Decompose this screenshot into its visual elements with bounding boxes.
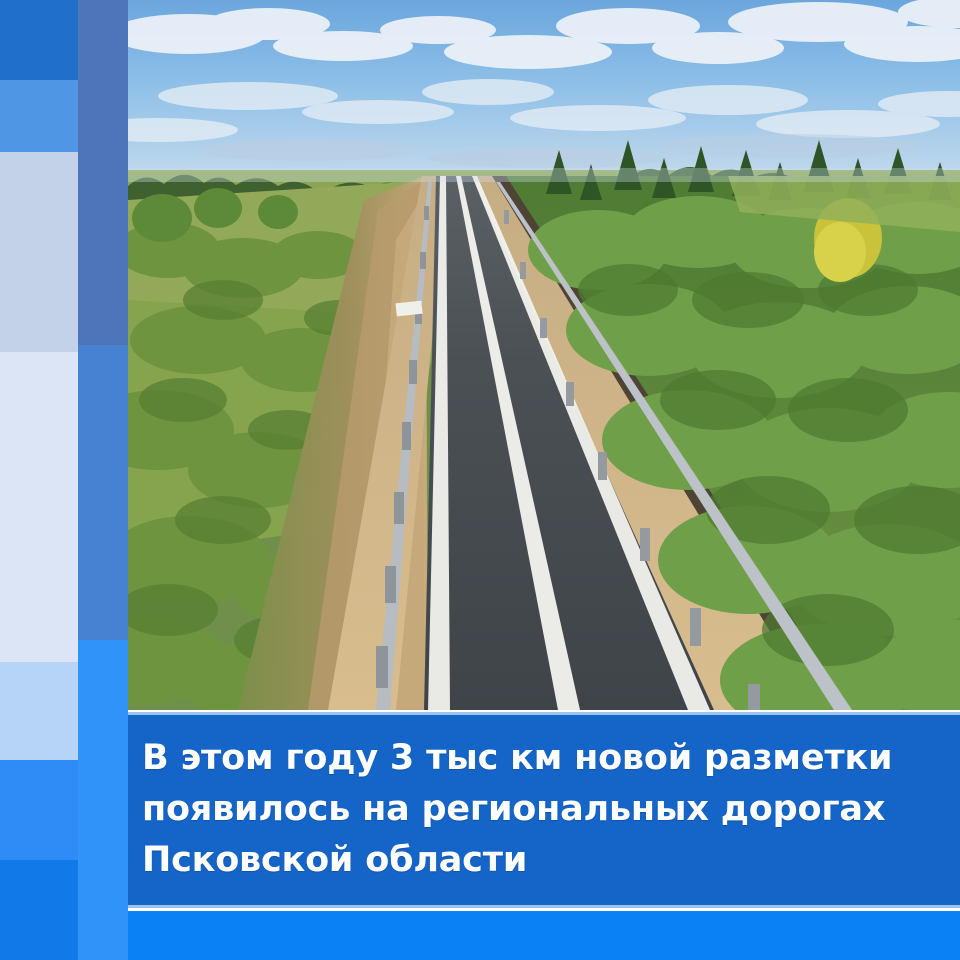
- caption-block: В этом году 3 тыс км новой разметки появ…: [128, 712, 960, 908]
- caption-text: В этом году 3 тыс км новой разметки появ…: [142, 733, 946, 886]
- deco-block-1g: [0, 860, 78, 960]
- road-photo-illustration: [128, 0, 960, 710]
- decorative-column-left: [0, 0, 78, 960]
- deco-block-1d: [0, 352, 78, 662]
- bottom-bar-left-edge: [110, 911, 128, 960]
- deco-block-1f: [0, 760, 78, 860]
- decorative-column-inner: [78, 0, 128, 960]
- road-photo: [128, 0, 960, 710]
- social-card: В этом году 3 тыс км новой разметки появ…: [0, 0, 960, 960]
- deco-block-1a: [0, 0, 78, 80]
- deco-block-1b: [0, 80, 78, 152]
- bottom-bar: [128, 911, 960, 960]
- deco-block-1e: [0, 662, 78, 760]
- deco-block-2a: [78, 0, 128, 345]
- deco-block-2b: [78, 345, 128, 640]
- deco-block-1c: [0, 152, 78, 352]
